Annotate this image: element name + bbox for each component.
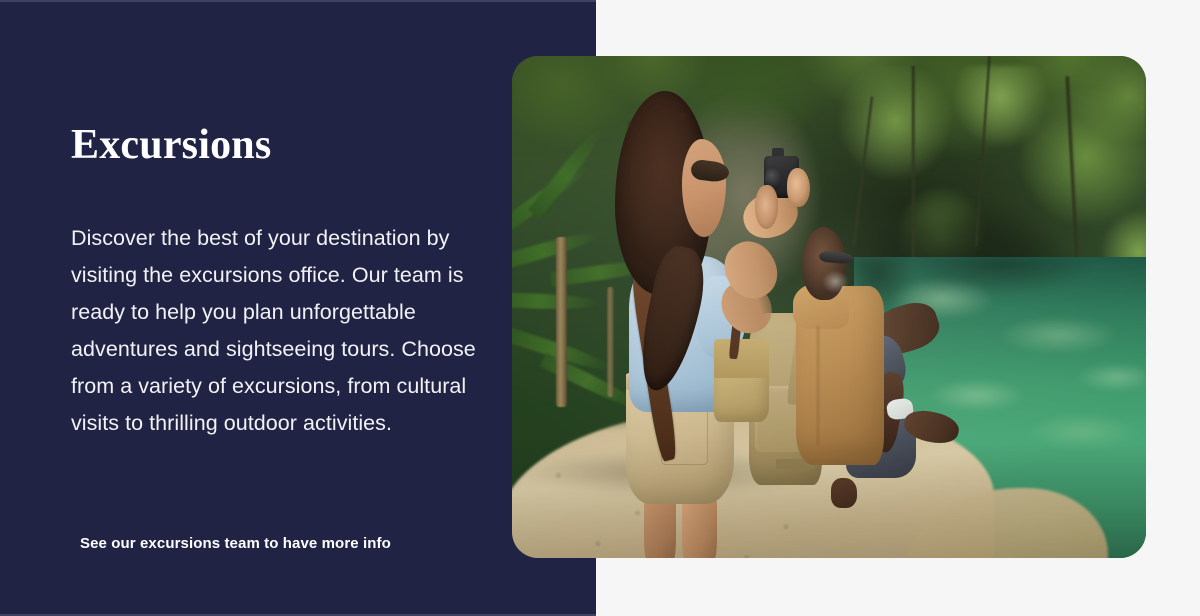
photo-woman-hair-wisps (609, 100, 714, 295)
info-panel: Excursions Discover the best of your des… (0, 0, 596, 616)
cenote-photo (512, 56, 1146, 558)
photo-bag-flap (714, 339, 769, 378)
photo-woman-hand (787, 168, 810, 207)
body-paragraph: Discover the best of your destination by… (71, 220, 496, 442)
info-panel-content: Excursions Discover the best of your des… (71, 0, 501, 616)
photo-bamboo-pole (556, 237, 567, 408)
excursions-photo-card (512, 56, 1146, 558)
photo-standing-woman (594, 71, 886, 558)
excursions-promo-section: Excursions Discover the best of your des… (0, 0, 1200, 616)
excursions-cta-link[interactable]: See our excursions team to have more inf… (80, 533, 391, 555)
page-title: Excursions (71, 122, 271, 168)
